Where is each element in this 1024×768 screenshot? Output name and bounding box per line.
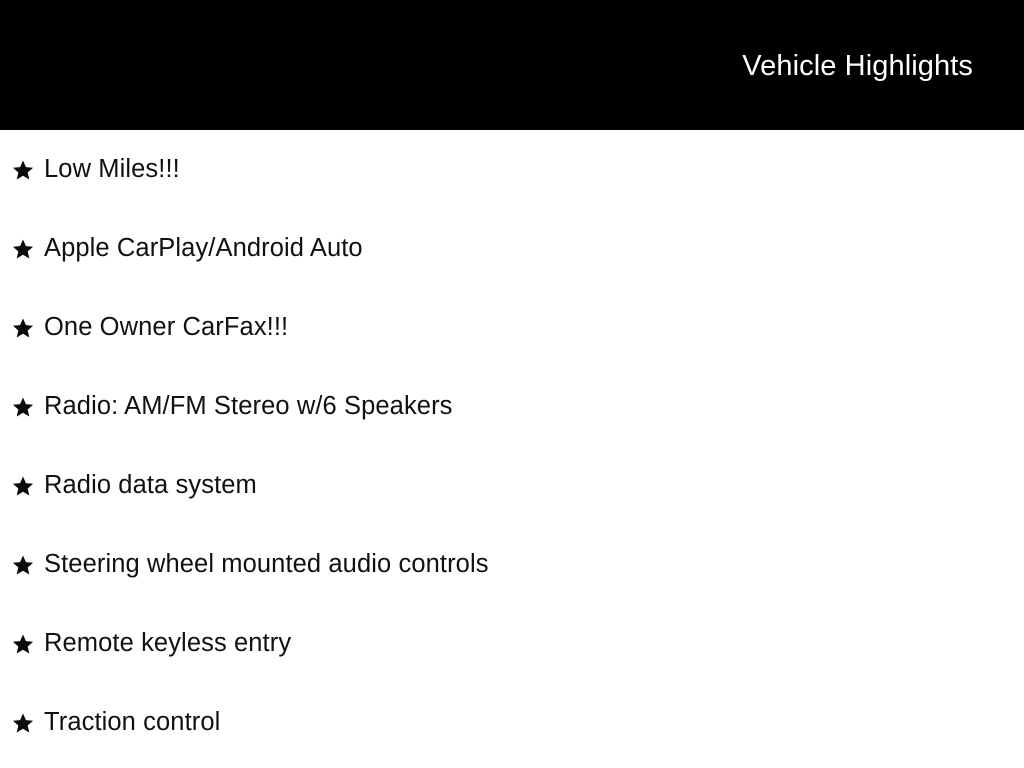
list-item-label: Traction control (44, 708, 220, 737)
list-item: Steering wheel mounted audio controls (0, 525, 1024, 604)
star-icon (12, 317, 34, 339)
header-bar: Vehicle Highlights (0, 0, 1024, 130)
list-item: Radio: AM/FM Stereo w/6 Speakers (0, 367, 1024, 446)
list-item: Low Miles!!! (0, 130, 1024, 209)
list-item: Traction control (0, 683, 1024, 762)
vehicle-highlights-list: Low Miles!!! Apple CarPlay/Android Auto … (0, 130, 1024, 762)
star-icon (12, 159, 34, 181)
list-item: One Owner CarFax!!! (0, 288, 1024, 367)
list-item: Apple CarPlay/Android Auto (0, 209, 1024, 288)
list-item-label: Apple CarPlay/Android Auto (44, 234, 363, 263)
star-icon (12, 633, 34, 655)
star-icon (12, 238, 34, 260)
list-item-label: Low Miles!!! (44, 155, 180, 184)
list-item-label: Radio: AM/FM Stereo w/6 Speakers (44, 392, 453, 421)
vehicle-highlights-page: Vehicle Highlights Low Miles!!! Apple Ca… (0, 0, 1024, 768)
list-item-label: Radio data system (44, 471, 257, 500)
list-item-label: Remote keyless entry (44, 629, 291, 658)
page-title: Vehicle Highlights (742, 52, 973, 81)
list-item-label: Steering wheel mounted audio controls (44, 550, 489, 579)
star-icon (12, 475, 34, 497)
list-item: Remote keyless entry (0, 604, 1024, 683)
list-item-label: One Owner CarFax!!! (44, 313, 288, 342)
star-icon (12, 712, 34, 734)
list-item: Radio data system (0, 446, 1024, 525)
star-icon (12, 554, 34, 576)
star-icon (12, 396, 34, 418)
